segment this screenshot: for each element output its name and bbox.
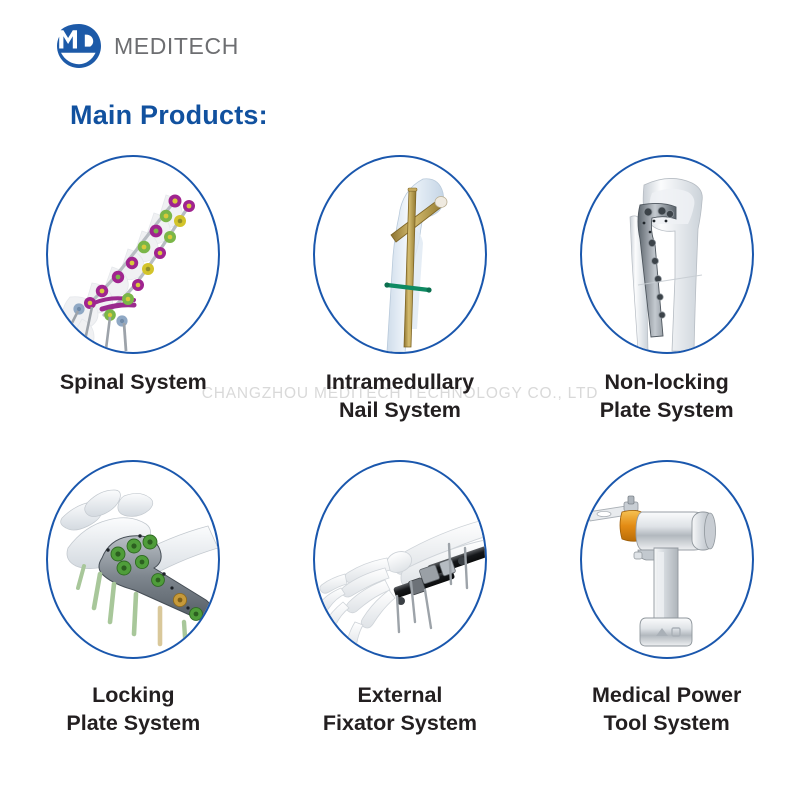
product-card-non-locking-plate-system[interactable]: Non-locking Plate System	[533, 155, 800, 460]
product-label-external-fixator-system: External Fixator System	[323, 681, 477, 738]
product-card-medical-power-tool-system[interactable]: Medical Power Tool System	[533, 460, 800, 765]
product-label-non-locking-plate-system: Non-locking Plate System	[600, 368, 734, 425]
brand-header: MEDITECH	[55, 22, 239, 70]
product-card-intramedullary-nail-system[interactable]: Intramedullary Nail System	[267, 155, 534, 460]
product-card-spinal-system[interactable]: Spinal System	[0, 155, 267, 460]
product-image-spinal-system	[46, 155, 220, 354]
product-card-locking-plate-system[interactable]: Locking Plate System	[0, 460, 267, 765]
product-image-non-locking-plate-system	[580, 155, 754, 354]
product-label-spinal-system: Spinal System	[60, 368, 207, 396]
product-image-external-fixator-system	[313, 460, 487, 659]
product-image-locking-plate-system	[46, 460, 220, 659]
product-image-medical-power-tool-system	[580, 460, 754, 659]
product-card-external-fixator-system[interactable]: External Fixator System	[267, 460, 534, 765]
product-grid: Spinal System	[0, 155, 800, 765]
product-label-medical-power-tool-system: Medical Power Tool System	[592, 681, 741, 738]
page-title: Main Products:	[70, 100, 268, 131]
meditech-md-circle-logo-icon	[55, 22, 103, 70]
product-label-intramedullary-nail-system: Intramedullary Nail System	[326, 368, 474, 425]
product-label-locking-plate-system: Locking Plate System	[66, 681, 200, 738]
product-image-intramedullary-nail-system	[313, 155, 487, 354]
brand-name: MEDITECH	[114, 33, 239, 60]
